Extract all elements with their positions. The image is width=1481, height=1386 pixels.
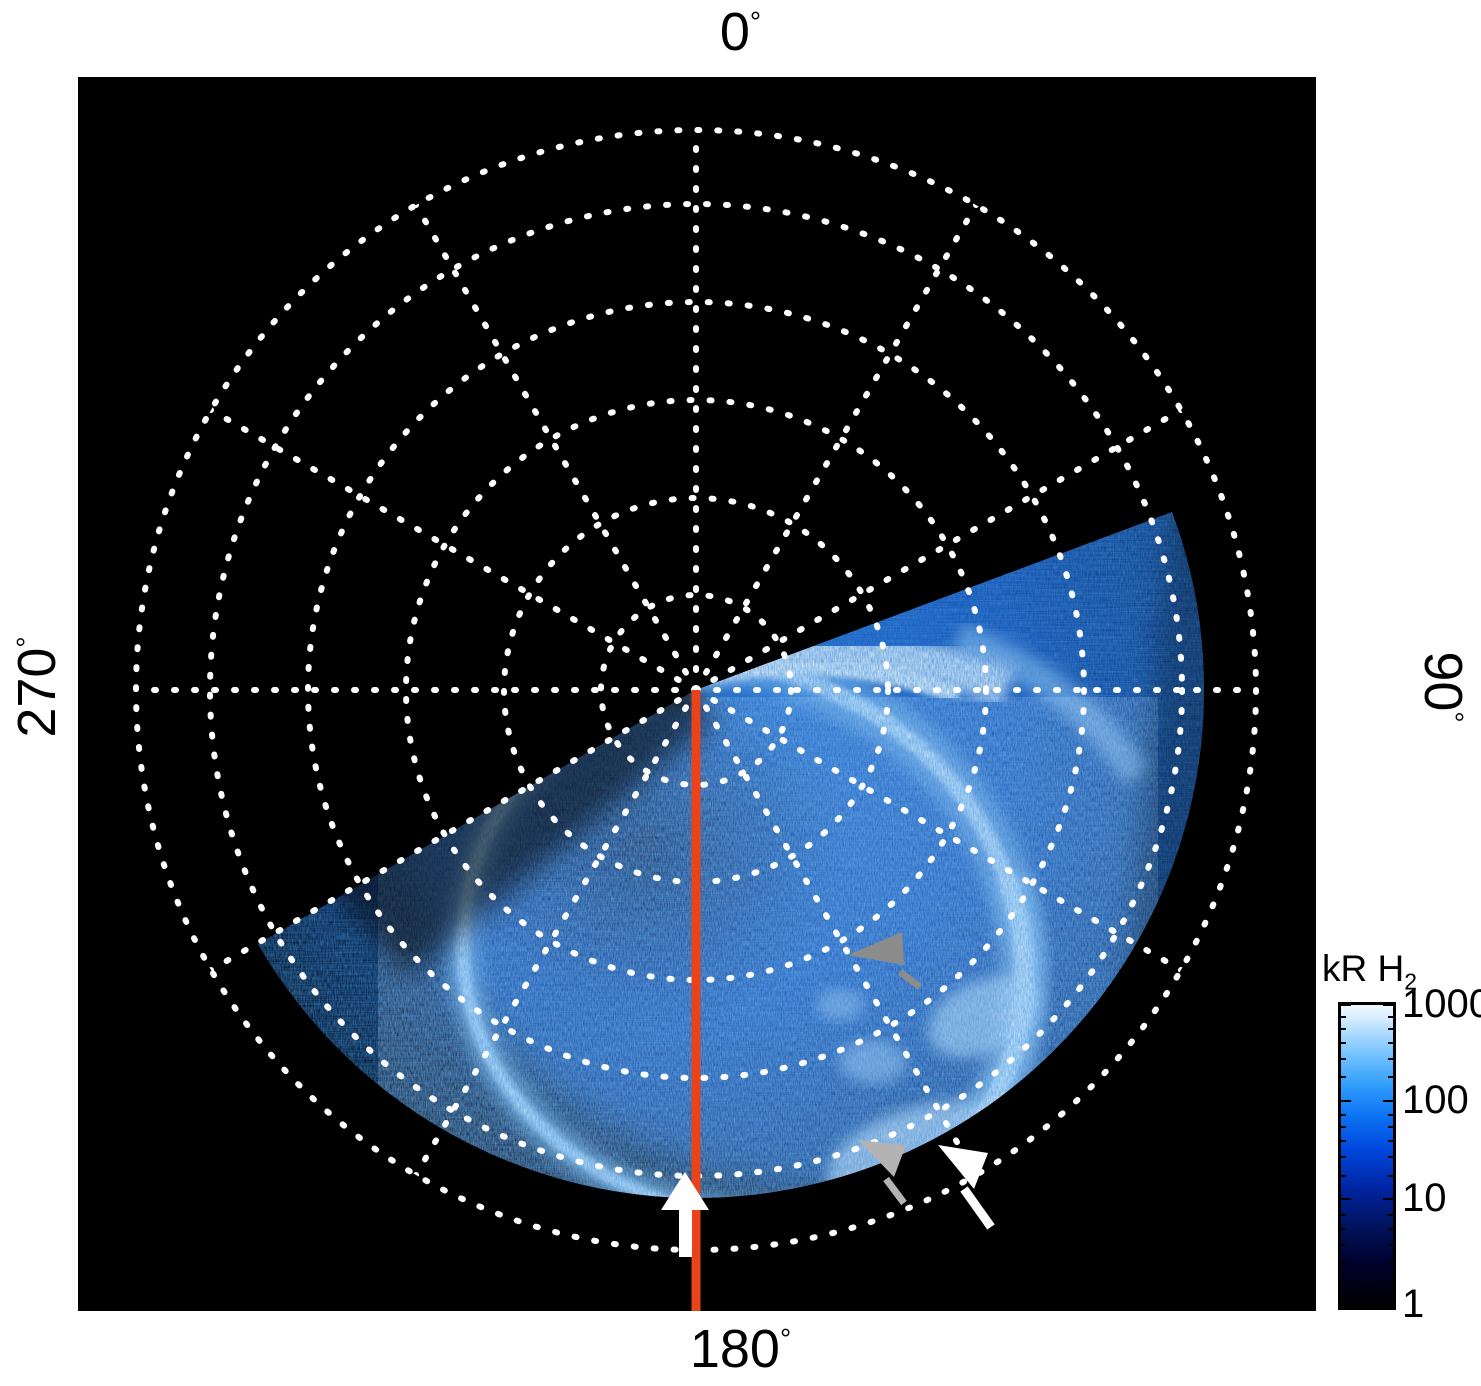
cb-minor-tick bbox=[1388, 1140, 1396, 1142]
cb-minor-tick bbox=[1338, 1282, 1346, 1284]
degree-symbol: ° bbox=[11, 636, 42, 647]
azimuth-label-90: 90° bbox=[1416, 587, 1470, 787]
colorbar-ticks bbox=[1338, 1002, 1396, 1310]
cb-tick-1-right bbox=[1383, 1304, 1396, 1306]
cb-minor-tick bbox=[1388, 1126, 1396, 1128]
cb-minor-tick bbox=[1388, 1244, 1396, 1246]
cb-minor-tick bbox=[1388, 1016, 1396, 1018]
polar-aurora-figure: 0° 180° 270° 90° bbox=[0, 0, 1481, 1386]
cb-minor-tick bbox=[1338, 1175, 1346, 1177]
cb-minor-tick bbox=[1388, 1114, 1396, 1116]
cb-tick-100-left bbox=[1338, 1100, 1351, 1102]
cb-minor-tick bbox=[1338, 1042, 1346, 1044]
cb-minor-tick bbox=[1338, 1016, 1346, 1018]
cb-tick-10-left bbox=[1338, 1198, 1351, 1200]
azimuth-label-0: 0° bbox=[0, 5, 1481, 59]
cb-minor-tick bbox=[1338, 1156, 1346, 1158]
cb-tick-10-right bbox=[1383, 1198, 1396, 1200]
cb-minor-tick bbox=[1338, 1262, 1346, 1264]
azimuth-label-0-text: 0 bbox=[720, 2, 750, 62]
azimuth-label-90-text: 90 bbox=[1413, 651, 1473, 711]
cb-minor-tick bbox=[1338, 1244, 1346, 1246]
colorbar-label-1: 1 bbox=[1402, 1284, 1424, 1324]
degree-symbol: ° bbox=[1438, 711, 1469, 722]
colorbar: kR H2 bbox=[1322, 950, 1481, 1325]
cb-tick-1000-right bbox=[1383, 1004, 1396, 1006]
azimuth-label-180: 180° bbox=[0, 1322, 1481, 1376]
cb-tick-100-right bbox=[1383, 1100, 1396, 1102]
cb-minor-tick bbox=[1338, 1058, 1346, 1060]
cb-minor-tick bbox=[1338, 1114, 1346, 1116]
colorbar-label-100: 100 bbox=[1402, 1080, 1469, 1120]
cb-minor-tick bbox=[1388, 1156, 1396, 1158]
cb-minor-tick bbox=[1388, 1042, 1396, 1044]
colorbar-label-1000: 1000 bbox=[1402, 984, 1481, 1024]
cb-minor-tick bbox=[1388, 1262, 1396, 1264]
cb-tick-1-left bbox=[1338, 1304, 1351, 1306]
cb-minor-tick bbox=[1338, 1214, 1346, 1216]
cb-minor-tick bbox=[1388, 1214, 1396, 1216]
colorbar-label-10: 10 bbox=[1402, 1178, 1447, 1218]
degree-symbol: ° bbox=[750, 6, 761, 37]
cb-minor-tick bbox=[1388, 1058, 1396, 1060]
cb-minor-tick bbox=[1338, 1076, 1346, 1078]
cb-minor-tick bbox=[1338, 1228, 1346, 1230]
azimuth-label-180-text: 180 bbox=[690, 1319, 780, 1379]
cb-minor-tick bbox=[1388, 1282, 1396, 1284]
azimuth-label-270-text: 270 bbox=[7, 648, 67, 738]
cb-minor-tick bbox=[1388, 1228, 1396, 1230]
cb-minor-tick bbox=[1388, 1076, 1396, 1078]
polar-plot-area bbox=[78, 77, 1316, 1311]
cb-tick-1000-left bbox=[1338, 1004, 1351, 1006]
cb-minor-tick bbox=[1388, 1175, 1396, 1177]
cb-minor-tick bbox=[1338, 1028, 1346, 1030]
azimuth-label-270: 270° bbox=[10, 587, 64, 787]
colorbar-title-main: kR H bbox=[1322, 948, 1404, 989]
cb-minor-tick bbox=[1338, 1140, 1346, 1142]
cb-minor-tick bbox=[1388, 1028, 1396, 1030]
polar-plot-canvas bbox=[78, 77, 1316, 1311]
cb-minor-tick bbox=[1338, 1126, 1346, 1128]
degree-symbol: ° bbox=[780, 1323, 791, 1354]
